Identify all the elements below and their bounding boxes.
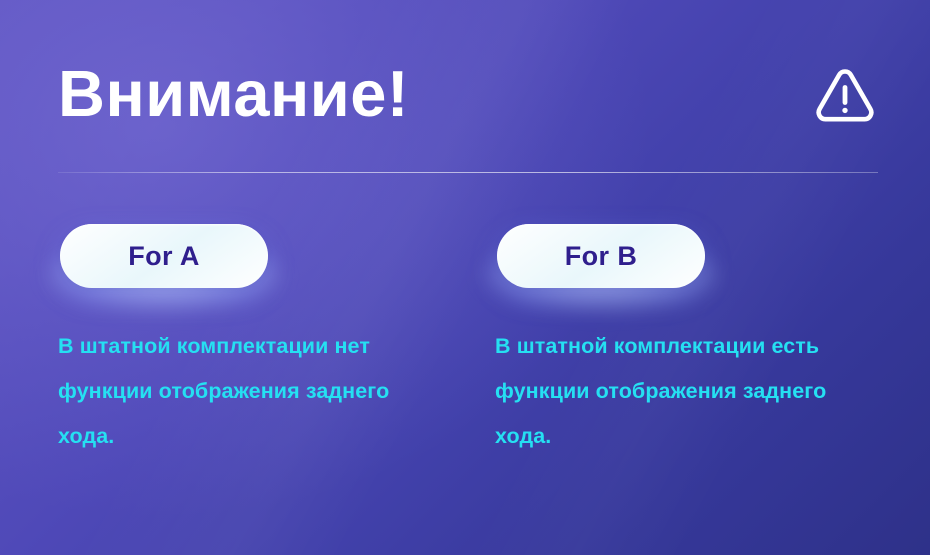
for-a-button[interactable]: For A: [60, 224, 268, 288]
pill-wrapper-for-b: For B: [497, 224, 705, 288]
column-for-a: For A В штатной комплектации нет функции…: [58, 210, 458, 481]
slide-header: Внимание!: [58, 46, 878, 142]
for-b-button-label: For B: [565, 241, 638, 272]
for-b-button[interactable]: For B: [497, 224, 705, 288]
pill-wrapper-for-a: For A: [60, 224, 268, 288]
warning-triangle-icon: [812, 62, 878, 128]
for-a-description: В штатной комплектации нет функции отобр…: [58, 324, 440, 459]
column-for-b: For B В штатной комплектации есть функци…: [495, 210, 895, 481]
page-title: Внимание!: [58, 46, 409, 142]
header-divider: [58, 172, 878, 173]
slide-root: Внимание! For A В штатной комплектации: [0, 0, 930, 555]
slide-content: Внимание! For A В штатной комплектации: [0, 0, 930, 555]
for-a-button-label: For A: [128, 241, 200, 272]
for-b-description: В штатной комплектации есть функции отоб…: [495, 324, 887, 459]
